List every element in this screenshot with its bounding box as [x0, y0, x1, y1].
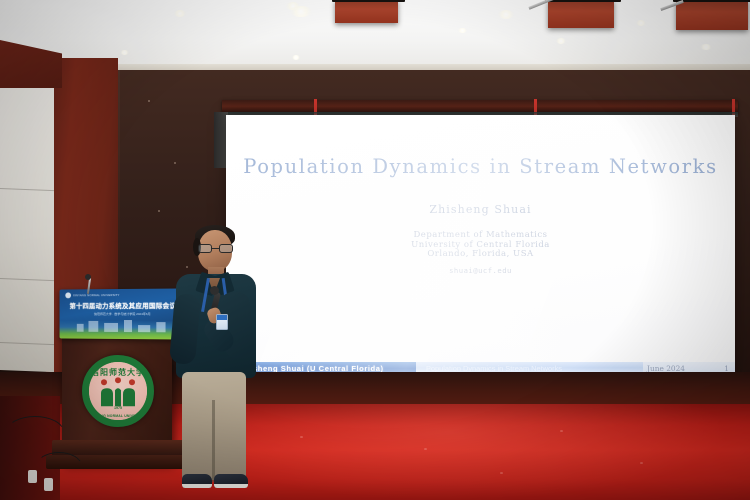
ceiling-light: [174, 10, 186, 17]
ceiling-light: [498, 10, 514, 19]
slide-title: Population Dynamics in Stream Networks: [226, 155, 735, 178]
ceiling-light: [292, 55, 300, 60]
ceiling-light: [556, 38, 566, 44]
shoe-sole: [214, 484, 248, 488]
glasses-bridge: [212, 248, 219, 249]
ceiling-light: [120, 50, 129, 55]
power-plug: [44, 478, 53, 491]
ceiling-light: [458, 28, 467, 33]
ceiling-wood-panel: [676, 0, 748, 30]
slide-author: Zhisheng Shuai: [226, 203, 735, 216]
conference-badge: [216, 314, 228, 330]
podium-microphone-head-icon: [85, 274, 91, 280]
trouser-seam: [212, 400, 215, 482]
speaker-glasses: [198, 244, 233, 253]
ceiling-light: [290, 6, 312, 17]
ceiling-wood-panel: [548, 0, 614, 28]
wall-white-panel: [0, 70, 54, 372]
banner-logo: XINYANG NORMAL UNIVERSITY: [65, 292, 119, 298]
speaker: [168, 222, 260, 500]
ceiling-wood-panel: [335, 0, 398, 23]
ceiling-light: [700, 44, 712, 50]
speaker-shoe-left: [182, 474, 212, 488]
badge-header-stripe: [217, 315, 227, 320]
university-emblem: 信阳师范大学 1975 XINYANG NORMAL UNIVERSITY: [82, 355, 154, 427]
emblem-year: 1975: [89, 406, 147, 410]
glasses-lens-left: [198, 244, 212, 253]
photo-scene: Population Dynamics in Stream Networks Z…: [0, 0, 750, 500]
glasses-lens-right: [219, 244, 233, 253]
slide-affiliation: Department of Mathematics University of …: [226, 231, 735, 260]
ceiling-light: [636, 20, 646, 26]
banner-logo-text: XINYANG NORMAL UNIVERSITY: [73, 293, 120, 297]
shoe-sole: [182, 484, 212, 488]
affiliation-line-3: Orlando, Florida, USA: [226, 250, 735, 260]
presentation-slide: Population Dynamics in Stream Networks Z…: [226, 115, 735, 377]
slide-email: shuai@ucf.edu: [226, 266, 735, 275]
speaker-shoe-right: [214, 474, 248, 488]
projection-screen: Population Dynamics in Stream Networks Z…: [226, 115, 735, 377]
power-plug: [28, 470, 37, 483]
handheld-microphone-head-icon: [210, 286, 219, 295]
emblem-figures-icon: [96, 377, 140, 407]
emblem-english-name: XINYANG NORMAL UNIVERSITY: [89, 414, 147, 418]
banner-logo-icon: [65, 292, 71, 298]
